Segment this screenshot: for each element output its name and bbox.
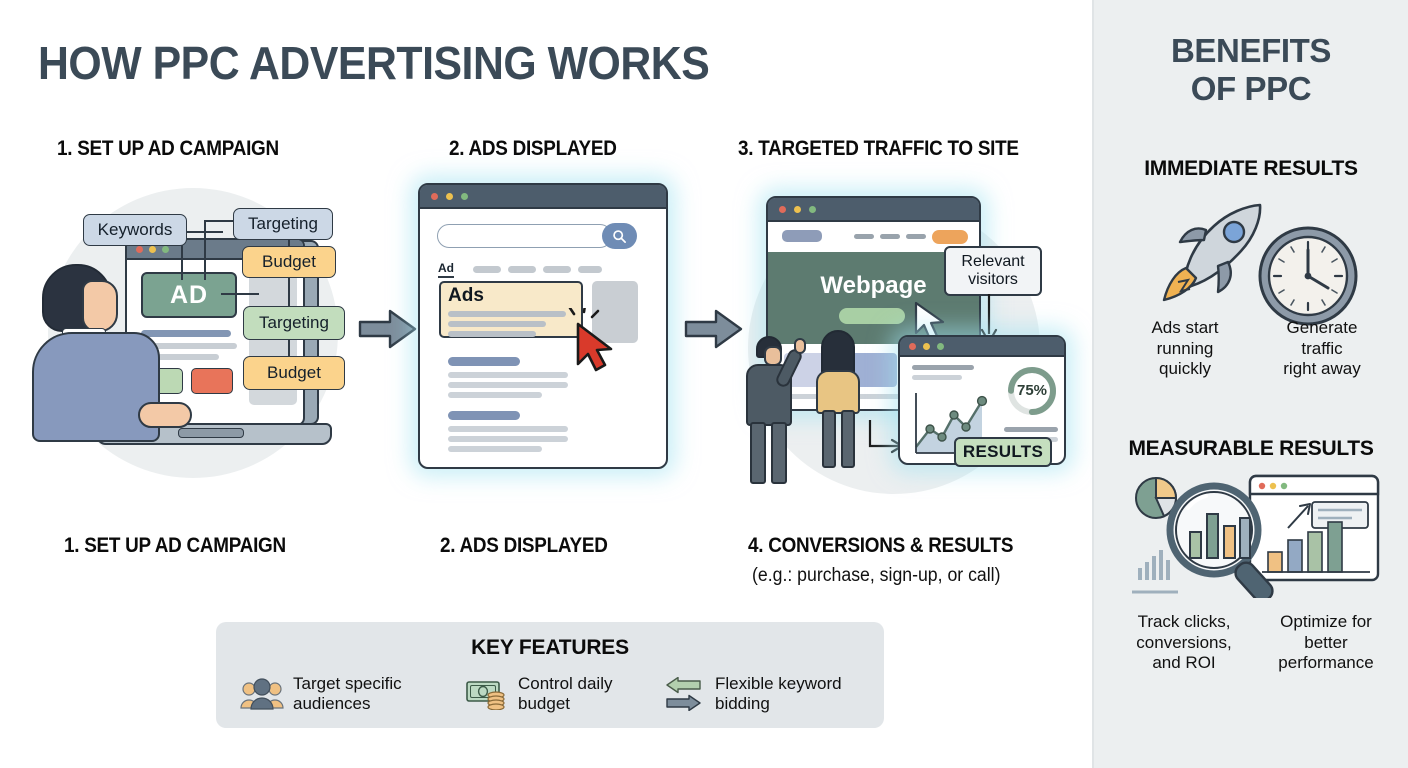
nav-dash [906, 234, 926, 239]
window-dot-red[interactable] [779, 206, 786, 213]
search-input[interactable] [437, 224, 612, 248]
key-feature-item-1: Target specific audiences [240, 674, 402, 714]
search-button[interactable] [602, 223, 637, 249]
window-dot-red [136, 246, 143, 253]
person-a-hand [794, 338, 806, 354]
search-icon [612, 229, 627, 244]
kf3-line2: bidding [715, 694, 842, 714]
ad-creative-box: AD [141, 272, 237, 318]
kf3-line1: Flexible keyword [715, 674, 842, 694]
person-a-face [764, 346, 782, 366]
window-dot-yellow[interactable] [446, 193, 453, 200]
tag-targeting-mid: Targeting [243, 306, 345, 340]
ad-copy-line [448, 331, 536, 337]
leader-line [204, 220, 206, 280]
screen-text-line [141, 330, 231, 337]
hero-cta-pill[interactable] [839, 308, 905, 324]
tag-budget-bottom: Budget [243, 356, 345, 390]
key-features-title: KEY FEATURES [216, 636, 884, 660]
kf2-line2: budget [518, 694, 613, 714]
callout-line-2: visitors [968, 271, 1018, 289]
sidebar-caption-4: Optimize for better performance [1250, 612, 1402, 674]
people-group-icon [240, 678, 284, 710]
window-dot-yellow [149, 246, 156, 253]
flow-arrow-2 [684, 308, 744, 350]
analytics-line [912, 375, 962, 380]
nav-pill [508, 266, 536, 273]
window-dot-green [162, 246, 169, 253]
cap2-line1: Generate [1246, 318, 1398, 339]
panel-ads-displayed: Ad Ads [418, 183, 672, 473]
nav-pill [578, 266, 602, 273]
screen-thumb-orange [191, 368, 233, 394]
ad-copy-line [448, 321, 546, 327]
window-dot-red[interactable] [909, 343, 916, 350]
laptop-trackpad [178, 428, 244, 438]
magnifier-bar-chart-icon [1122, 470, 1384, 598]
person-face [82, 280, 118, 332]
two-way-arrows-icon [662, 677, 706, 711]
cap2-line2: traffic [1246, 339, 1398, 360]
organic-result-line [448, 446, 542, 452]
cap3-line1: Track clicks, [1108, 612, 1260, 633]
flow-arrow-1 [358, 308, 418, 350]
callout-line-1: Relevant [961, 253, 1024, 271]
nav-cta-button[interactable] [932, 230, 968, 244]
organic-result-line [448, 436, 568, 442]
person-b-torso [816, 370, 860, 414]
nav-pill [473, 266, 501, 273]
tag-label: Budget [267, 363, 321, 383]
step-header-1: 1. SET UP AD CAMPAIGN [57, 137, 279, 161]
step-footer-3: 4. CONVERSIONS & RESULTS [748, 534, 1013, 558]
cap3-line2: conversions, [1108, 633, 1260, 654]
leader-line [221, 293, 259, 295]
serp-browser-window: Ad Ads [418, 183, 668, 469]
sidebar-caption-2: Generate traffic right away [1246, 318, 1398, 380]
person-b-leg [822, 410, 836, 468]
key-feature-item-3: Flexible keyword bidding [662, 674, 842, 714]
sidebar-title: BENEFITS OF PPC [1094, 32, 1408, 108]
cap3-line3: and ROI [1108, 653, 1260, 674]
tag-label: Targeting [248, 214, 318, 234]
key-feature-text-2: Control daily budget [518, 674, 613, 714]
sidebar-title-line-1: BENEFITS [1094, 32, 1408, 70]
relevant-visitors-callout: Relevant visitors [944, 246, 1042, 296]
cap4-line3: performance [1250, 653, 1402, 674]
step-footer-1: 1. SET UP AD CAMPAIGN [64, 534, 286, 558]
window-dot-red[interactable] [431, 193, 438, 200]
organic-result-line [448, 382, 568, 388]
sidebar-caption-1: Ads start running quickly [1112, 318, 1258, 380]
key-feature-text-3: Flexible keyword bidding [715, 674, 842, 714]
kf1-line1: Target specific [293, 674, 402, 694]
ad-box-label: AD [170, 281, 208, 310]
nav-pill [543, 266, 571, 273]
step-header-3: 3. TARGETED TRAFFIC TO SITE [738, 137, 1019, 161]
leader-line [181, 231, 223, 233]
cap2-line3: right away [1246, 359, 1398, 380]
benefits-sidebar: BENEFITS OF PPC IMMEDIATE RESULTS [1092, 0, 1408, 768]
sidebar-caption-3: Track clicks, conversions, and ROI [1108, 612, 1260, 674]
sidebar-title-line-2: OF PPC [1094, 70, 1408, 108]
tag-keywords: Keywords [83, 214, 187, 246]
analytics-line [1004, 427, 1058, 432]
donut-value: 75% [1014, 382, 1050, 399]
organic-result-title [448, 357, 520, 366]
key-feature-text-1: Target specific audiences [293, 674, 402, 714]
person-b-leg [841, 410, 855, 468]
page-title: HOW PPC ADVERTISING WORKS [38, 36, 709, 90]
main-content-area: HOW PPC ADVERTISING WORKS 1. SET UP AD C… [0, 0, 1092, 768]
browser-title-bar [768, 198, 979, 222]
ads-card-title: Ads [448, 285, 484, 307]
step-footer-3-subtext: (e.g.: purchase, sign-up, or call) [752, 565, 1000, 587]
person-a-leg [750, 422, 766, 484]
ad-tab-label[interactable]: Ad [438, 261, 454, 278]
window-dot-yellow[interactable] [923, 343, 930, 350]
analytics-line [912, 365, 974, 370]
clock-icon [1254, 222, 1362, 330]
key-features-box: KEY FEATURES Target specific audiences [216, 622, 884, 728]
nav-dash [854, 234, 874, 239]
infographic-page: HOW PPC ADVERTISING WORKS 1. SET UP AD C… [0, 0, 1408, 768]
organic-result-line [448, 426, 568, 432]
results-badge: RESULTS [954, 437, 1052, 467]
cap4-line1: Optimize for [1250, 612, 1402, 633]
person-hand [138, 402, 192, 428]
sidebar-section-heading-measurable: MEASURABLE RESULTS [1094, 437, 1408, 461]
kf1-line2: audiences [293, 694, 402, 714]
cap1-line3: quickly [1112, 359, 1258, 380]
step-header-2: 2. ADS DISPLAYED [449, 137, 617, 161]
person-a-leg [771, 422, 787, 484]
organic-result-line [448, 392, 542, 398]
tag-label: Keywords [98, 220, 173, 240]
window-dot-green[interactable] [809, 206, 816, 213]
site-logo-pill [782, 230, 822, 242]
nav-dash [880, 234, 900, 239]
tag-label: Budget [262, 252, 316, 272]
key-feature-item-2: Control daily budget [465, 674, 613, 714]
window-dot-yellow[interactable] [794, 206, 801, 213]
window-dot-green[interactable] [937, 343, 944, 350]
browser-title-bar [900, 337, 1064, 357]
tag-label: Targeting [259, 313, 329, 333]
cursor-click-icon [560, 308, 628, 374]
window-dot-green[interactable] [461, 193, 468, 200]
tag-targeting-top: Targeting [233, 208, 333, 240]
money-cash-icon [465, 678, 509, 710]
person-torso [32, 332, 160, 442]
pie-chart-icon [1136, 478, 1176, 518]
tag-budget-top: Budget [242, 246, 336, 278]
cap1-line1: Ads start [1112, 318, 1258, 339]
step-footer-2: 2. ADS DISPLAYED [440, 534, 608, 558]
cap1-line2: running [1112, 339, 1258, 360]
organic-result-line [448, 372, 568, 378]
organic-result-title [448, 411, 520, 420]
panel-setup-campaign: AD Keywords [30, 180, 360, 500]
kf2-line1: Control daily [518, 674, 613, 694]
sidebar-section-heading-immediate: IMMEDIATE RESULTS [1094, 157, 1408, 181]
panel-targeted-traffic: Webpage Relevant visitors [738, 180, 1078, 500]
browser-title-bar [420, 185, 666, 209]
cap4-line2: better [1250, 633, 1402, 654]
ad-copy-line [448, 311, 566, 317]
